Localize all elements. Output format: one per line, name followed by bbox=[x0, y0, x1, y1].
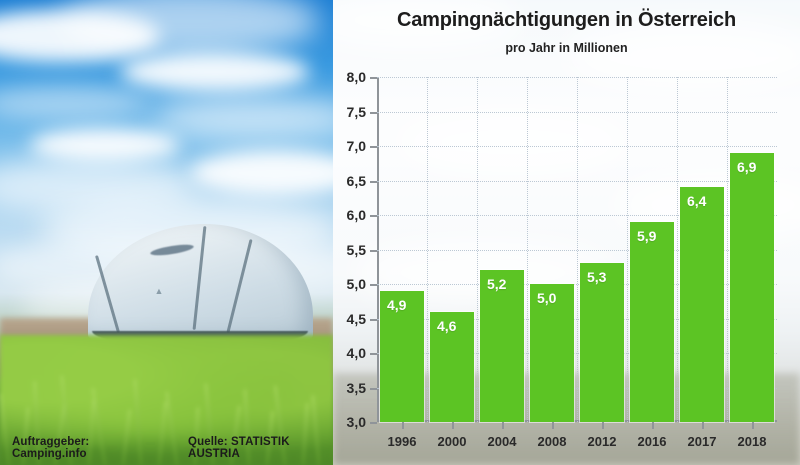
y-axis-label: 8,0 bbox=[347, 69, 366, 85]
footer-client: Auftraggeber: Camping.info bbox=[12, 436, 156, 460]
bar-2012[interactable]: 5,3 bbox=[580, 263, 624, 422]
bar-value-label: 5,9 bbox=[637, 228, 656, 244]
grid-line-vertical bbox=[477, 77, 478, 422]
y-axis-label: 5,0 bbox=[347, 276, 366, 292]
bar-chart-plot: 3,03,54,04,55,05,56,06,57,07,58,04,91996… bbox=[377, 77, 777, 422]
bar-2016[interactable]: 5,9 bbox=[630, 222, 674, 422]
bar-value-label: 4,6 bbox=[437, 318, 456, 334]
x-axis-label-2000: 2000 bbox=[438, 434, 467, 449]
x-axis-label-2018: 2018 bbox=[738, 434, 767, 449]
page-subtitle: pro Jahr in Millionen bbox=[333, 41, 800, 55]
grid-line-vertical bbox=[577, 77, 578, 422]
cloud-shape bbox=[120, 52, 310, 92]
tent-icon: ▲ bbox=[88, 224, 313, 344]
y-axis-label: 4,0 bbox=[347, 345, 366, 361]
y-axis-tick bbox=[370, 112, 377, 114]
y-axis-tick bbox=[370, 353, 377, 355]
x-axis-label-2008: 2008 bbox=[538, 434, 567, 449]
chart-panel: Campingnächtigungen in Österreich pro Ja… bbox=[333, 0, 800, 465]
y-axis-tick bbox=[370, 284, 377, 286]
footer-source: Quelle: STATISTIK AUSTRIA bbox=[188, 436, 333, 460]
y-axis-tick bbox=[370, 319, 377, 321]
y-axis-label: 6,0 bbox=[347, 207, 366, 223]
infographic-root: ▲ Auftraggeber: Camping.info bbox=[0, 0, 800, 465]
page-title: Campingnächtigungen in Österreich bbox=[333, 9, 800, 32]
y-axis-tick bbox=[370, 181, 377, 183]
y-axis-label: 3,5 bbox=[347, 380, 366, 396]
grid-line-vertical bbox=[727, 77, 728, 422]
grid-line-vertical bbox=[627, 77, 628, 422]
bar-2008[interactable]: 5,0 bbox=[530, 284, 574, 422]
y-axis-tick bbox=[370, 77, 377, 79]
bar-1996[interactable]: 4,9 bbox=[380, 291, 424, 422]
y-axis-label: 3,0 bbox=[347, 414, 366, 430]
y-axis-label: 7,0 bbox=[347, 138, 366, 154]
cloud-shape bbox=[190, 150, 333, 196]
x-axis-tick bbox=[652, 422, 654, 429]
x-axis-label-2012: 2012 bbox=[588, 434, 617, 449]
x-axis-label-1996: 1996 bbox=[388, 434, 417, 449]
y-axis-tick bbox=[370, 422, 377, 424]
y-axis-tick bbox=[370, 146, 377, 148]
bar-value-label: 6,4 bbox=[687, 193, 706, 209]
grid-line-vertical bbox=[527, 77, 528, 422]
grid-line-vertical bbox=[677, 77, 678, 422]
x-axis-label-2017: 2017 bbox=[688, 434, 717, 449]
cloud-shape bbox=[150, 96, 333, 140]
bar-2017[interactable]: 6,4 bbox=[680, 187, 724, 422]
bar-value-label: 4,9 bbox=[387, 297, 406, 313]
x-axis-tick bbox=[702, 422, 704, 429]
tent-logo: ▲ bbox=[146, 286, 172, 304]
bar-2004[interactable]: 5,2 bbox=[480, 270, 524, 422]
bar-value-label: 5,0 bbox=[537, 290, 556, 306]
y-axis-label: 6,5 bbox=[347, 173, 366, 189]
tent-dome bbox=[88, 224, 313, 342]
y-axis-label: 4,5 bbox=[347, 311, 366, 327]
bar-value-label: 5,2 bbox=[487, 276, 506, 292]
cloud-shape bbox=[0, 86, 150, 120]
y-axis-tick bbox=[370, 250, 377, 252]
bar-2018[interactable]: 6,9 bbox=[730, 153, 774, 422]
x-axis-tick bbox=[502, 422, 504, 429]
y-axis-label: 7,5 bbox=[347, 104, 366, 120]
y-axis-label: 5,5 bbox=[347, 242, 366, 258]
bar-2000[interactable]: 4,6 bbox=[430, 312, 474, 422]
x-axis-tick bbox=[402, 422, 404, 429]
x-axis-tick bbox=[552, 422, 554, 429]
grid-line-vertical bbox=[427, 77, 428, 422]
y-axis-tick bbox=[370, 388, 377, 390]
camping-tent-photo: ▲ Auftraggeber: Camping.info bbox=[0, 0, 333, 465]
y-axis-tick bbox=[370, 215, 377, 217]
bar-value-label: 5,3 bbox=[587, 269, 606, 285]
bar-value-label: 6,9 bbox=[737, 159, 756, 175]
footer-credits: Auftraggeber: Camping.info Quelle: STATI… bbox=[0, 431, 333, 465]
x-axis-label-2016: 2016 bbox=[638, 434, 667, 449]
x-axis-tick bbox=[752, 422, 754, 429]
x-axis-label-2004: 2004 bbox=[488, 434, 517, 449]
x-axis-tick bbox=[452, 422, 454, 429]
x-axis-tick bbox=[602, 422, 604, 429]
